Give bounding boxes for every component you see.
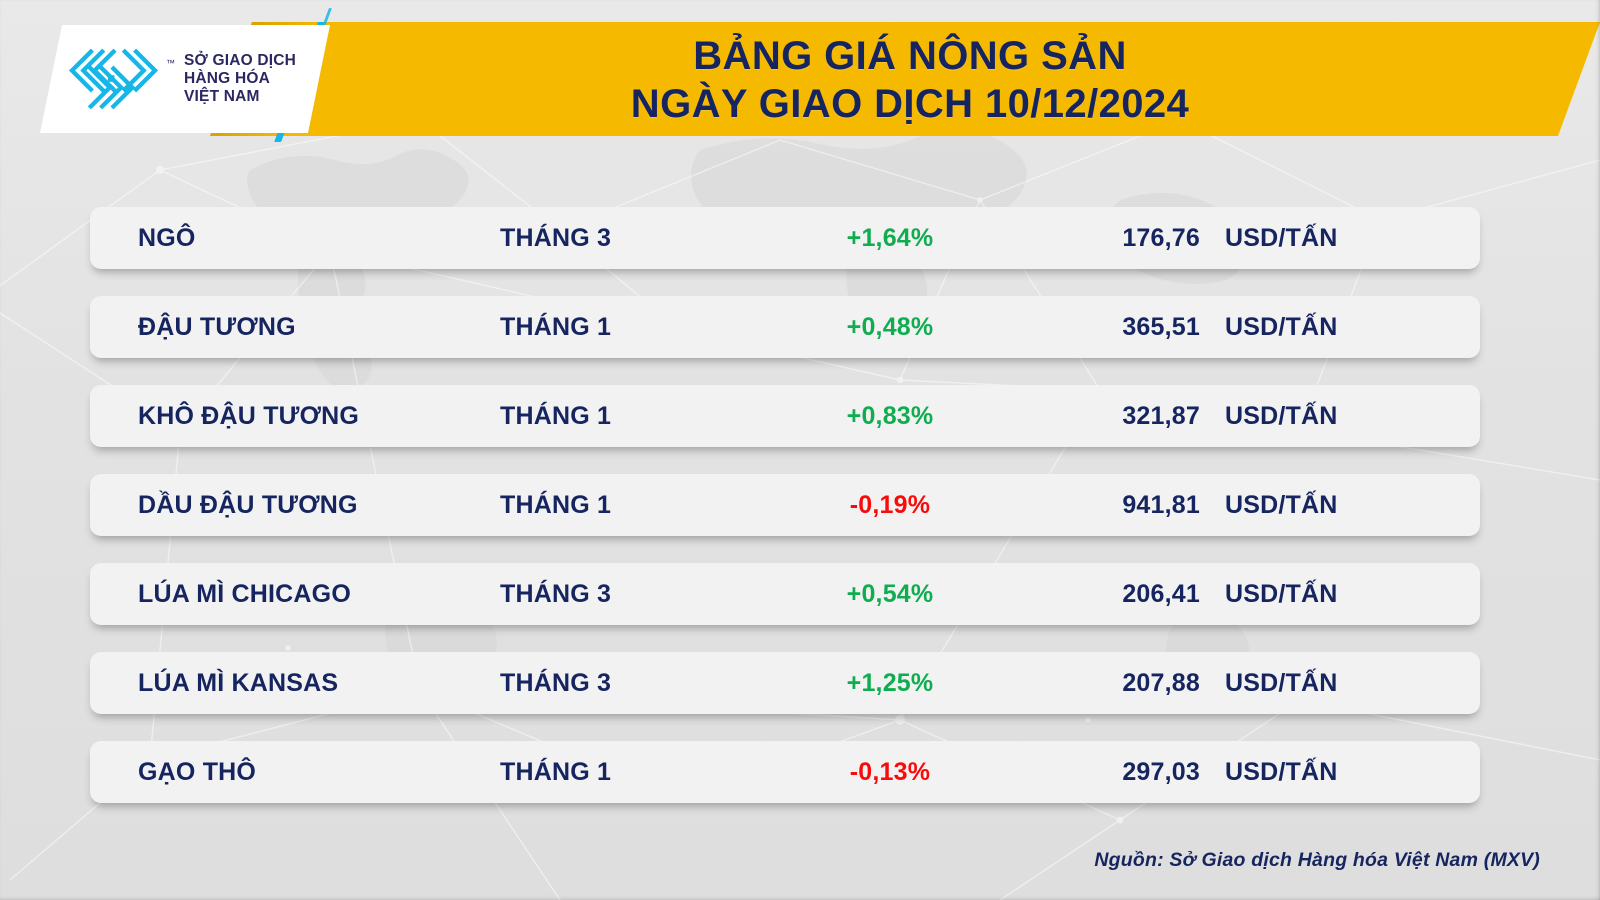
contract-month: THÁNG 1 [500,402,611,431]
contract-month: THÁNG 1 [500,491,611,520]
commodity-name: GẠO THÔ [138,758,256,787]
mxv-chevron-logo-icon [66,46,161,112]
contract-month: THÁNG 1 [500,313,611,342]
contract-month: THÁNG 1 [500,758,611,787]
commodity-name: LÚA MÌ CHICAGO [138,580,351,609]
title-line-1: BẢNG GIÁ NÔNG SẢN [693,32,1126,80]
price-value: 207,88 [1040,669,1200,698]
commodity-name: ĐẬU TƯƠNG [138,313,296,342]
commodity-name: DẦU ĐẬU TƯƠNG [138,491,358,520]
price-value: 941,81 [1040,491,1200,520]
commodity-name: LÚA MÌ KANSAS [138,669,338,698]
commodity-name: KHÔ ĐẬU TƯƠNG [138,402,359,431]
change-percent: +1,25% [790,669,990,698]
table-row[interactable]: KHÔ ĐẬU TƯƠNGTHÁNG 1+0,83%321,87USD/TẤN [90,385,1480,447]
table-row[interactable]: GẠO THÔTHÁNG 1-0,13%297,03USD/TẤN [90,741,1480,803]
price-value: 321,87 [1040,402,1200,431]
commodity-price-table: NGÔTHÁNG 3+1,64%176,76USD/TẤNĐẬU TƯƠNGTH… [90,207,1480,830]
table-row[interactable]: NGÔTHÁNG 3+1,64%176,76USD/TẤN [90,207,1480,269]
trademark-symbol: ™ [166,58,175,68]
change-percent: +0,54% [790,580,990,609]
price-unit: USD/TẤN [1225,580,1338,609]
price-value: 297,03 [1040,758,1200,787]
header-banner: ™ SỞ GIAO DỊCH HÀNG HÓA VIỆT NAM BẢNG GI… [0,0,1600,140]
contract-month: THÁNG 3 [500,580,611,609]
logo-line-3: VIỆT NAM [184,88,296,106]
price-value: 176,76 [1040,224,1200,253]
page-title: BẢNG GIÁ NÔNG SẢN NGÀY GIAO DỊCH 10/12/2… [340,28,1480,132]
price-unit: USD/TẤN [1225,669,1338,698]
change-percent: +0,48% [790,313,990,342]
commodity-name: NGÔ [138,224,196,253]
infographic-canvas: ™ SỞ GIAO DỊCH HÀNG HÓA VIỆT NAM BẢNG GI… [0,0,1600,900]
table-row[interactable]: LÚA MÌ KANSASTHÁNG 3+1,25%207,88USD/TẤN [90,652,1480,714]
price-unit: USD/TẤN [1225,758,1338,787]
change-percent: +1,64% [790,224,990,253]
price-value: 365,51 [1040,313,1200,342]
price-unit: USD/TẤN [1225,313,1338,342]
contract-month: THÁNG 3 [500,669,611,698]
price-unit: USD/TẤN [1225,491,1338,520]
change-percent: -0,19% [790,491,990,520]
table-row[interactable]: ĐẬU TƯƠNGTHÁNG 1+0,48%365,51USD/TẤN [90,296,1480,358]
title-line-2: NGÀY GIAO DỊCH 10/12/2024 [631,80,1189,128]
price-unit: USD/TẤN [1225,402,1338,431]
price-unit: USD/TẤN [1225,224,1338,253]
price-value: 206,41 [1040,580,1200,609]
source-note: Nguồn: Sở Giao dịch Hàng hóa Việt Nam (M… [1094,849,1540,872]
change-percent: +0,83% [790,402,990,431]
logo-wordmark: SỞ GIAO DỊCH HÀNG HÓA VIỆT NAM [184,52,296,107]
table-row[interactable]: LÚA MÌ CHICAGOTHÁNG 3+0,54%206,41USD/TẤN [90,563,1480,625]
logo-panel: ™ SỞ GIAO DỊCH HÀNG HÓA VIỆT NAM [40,25,330,133]
table-row[interactable]: DẦU ĐẬU TƯƠNGTHÁNG 1-0,19%941,81USD/TẤN [90,474,1480,536]
change-percent: -0,13% [790,758,990,787]
logo-line-2: HÀNG HÓA [184,70,296,88]
contract-month: THÁNG 3 [500,224,611,253]
logo-line-1: SỞ GIAO DỊCH [184,52,296,70]
